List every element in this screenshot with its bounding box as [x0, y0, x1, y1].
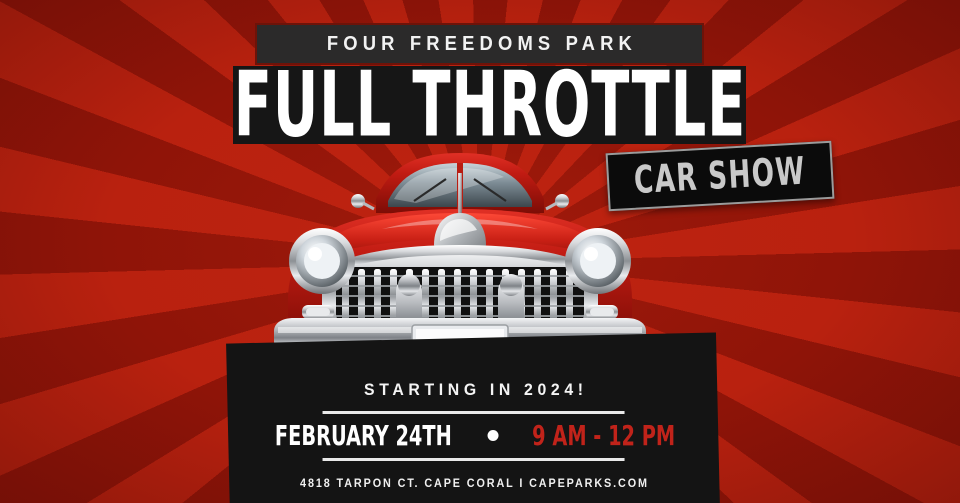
event-address: 4818 TARPON CT. CAPE CORAL I CAPEPARKS.C… [293, 476, 655, 490]
subtitle-text: CAR SHOW [633, 149, 807, 203]
divider-bottom [323, 458, 625, 461]
venue-name: FOUR FREEDOMS PARK [322, 33, 637, 56]
venue-plate: FOUR FREEDOMS PARK [255, 23, 704, 65]
event-time: 9 AM - 12 PM [532, 419, 675, 451]
date-time-row: FEBRUARY 24TH 9 AM - 12 PM [273, 421, 675, 450]
starting-year-text: STARTING IN 2024! [287, 380, 661, 400]
event-details-panel: STARTING IN 2024! FEBRUARY 24TH 9 AM - 1… [226, 332, 720, 503]
page-title: FULL THROTTLE [233, 66, 745, 144]
dot-separator-icon [488, 430, 499, 441]
title-plate: FULL THROTTLE [233, 66, 746, 144]
event-date: FEBRUARY 24TH [274, 419, 451, 451]
event-poster: FOUR FREEDOMS PARK FULL THROTTLE CAR SHO… [0, 0, 960, 503]
divider-top [323, 411, 625, 414]
